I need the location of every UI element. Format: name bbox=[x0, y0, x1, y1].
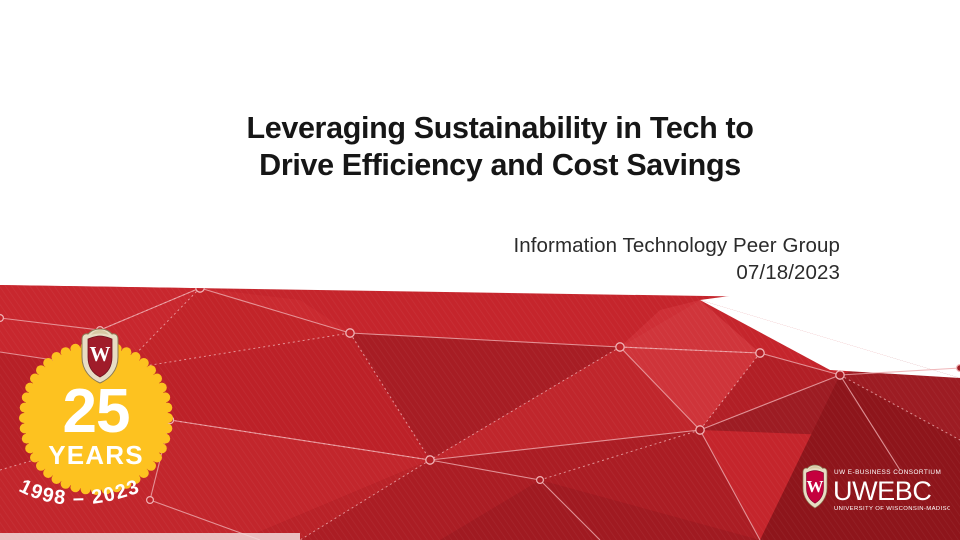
year-range-text: 1998 – 2023 bbox=[16, 475, 143, 510]
subtitle-block: Information Technology Peer Group 07/18/… bbox=[300, 232, 840, 287]
title-slide: Leveraging Sustainability in Tech to Dri… bbox=[0, 0, 960, 540]
logo-wordmark: UWEBC bbox=[833, 476, 932, 506]
crest-letter: W bbox=[90, 342, 111, 366]
logo-tagline-bottom: UNIVERSITY OF WISCONSIN-MADISON bbox=[834, 506, 950, 512]
subtitle-group: Information Technology Peer Group bbox=[300, 232, 840, 259]
title-block: Leveraging Sustainability in Tech to Dri… bbox=[160, 110, 840, 184]
logo-tagline-top: UW E-BUSINESS CONSORTIUM bbox=[834, 469, 941, 476]
page-title: Leveraging Sustainability in Tech to Dri… bbox=[160, 110, 840, 184]
uwebc-crest-icon: W bbox=[803, 465, 827, 508]
subtitle-date: 07/18/2023 bbox=[300, 259, 840, 286]
uw-crest-icon: W bbox=[77, 327, 123, 385]
badge-year-range: 1998 – 2023 bbox=[6, 455, 186, 540]
uwebc-crest-letter: W bbox=[807, 477, 824, 496]
svg-text:1998 – 2023: 1998 – 2023 bbox=[16, 475, 143, 510]
uwebc-logo: W UW E-BUSINESS CONSORTIUM UWEBC UNIVERS… bbox=[798, 462, 950, 518]
badge-number: 25 bbox=[63, 377, 130, 446]
